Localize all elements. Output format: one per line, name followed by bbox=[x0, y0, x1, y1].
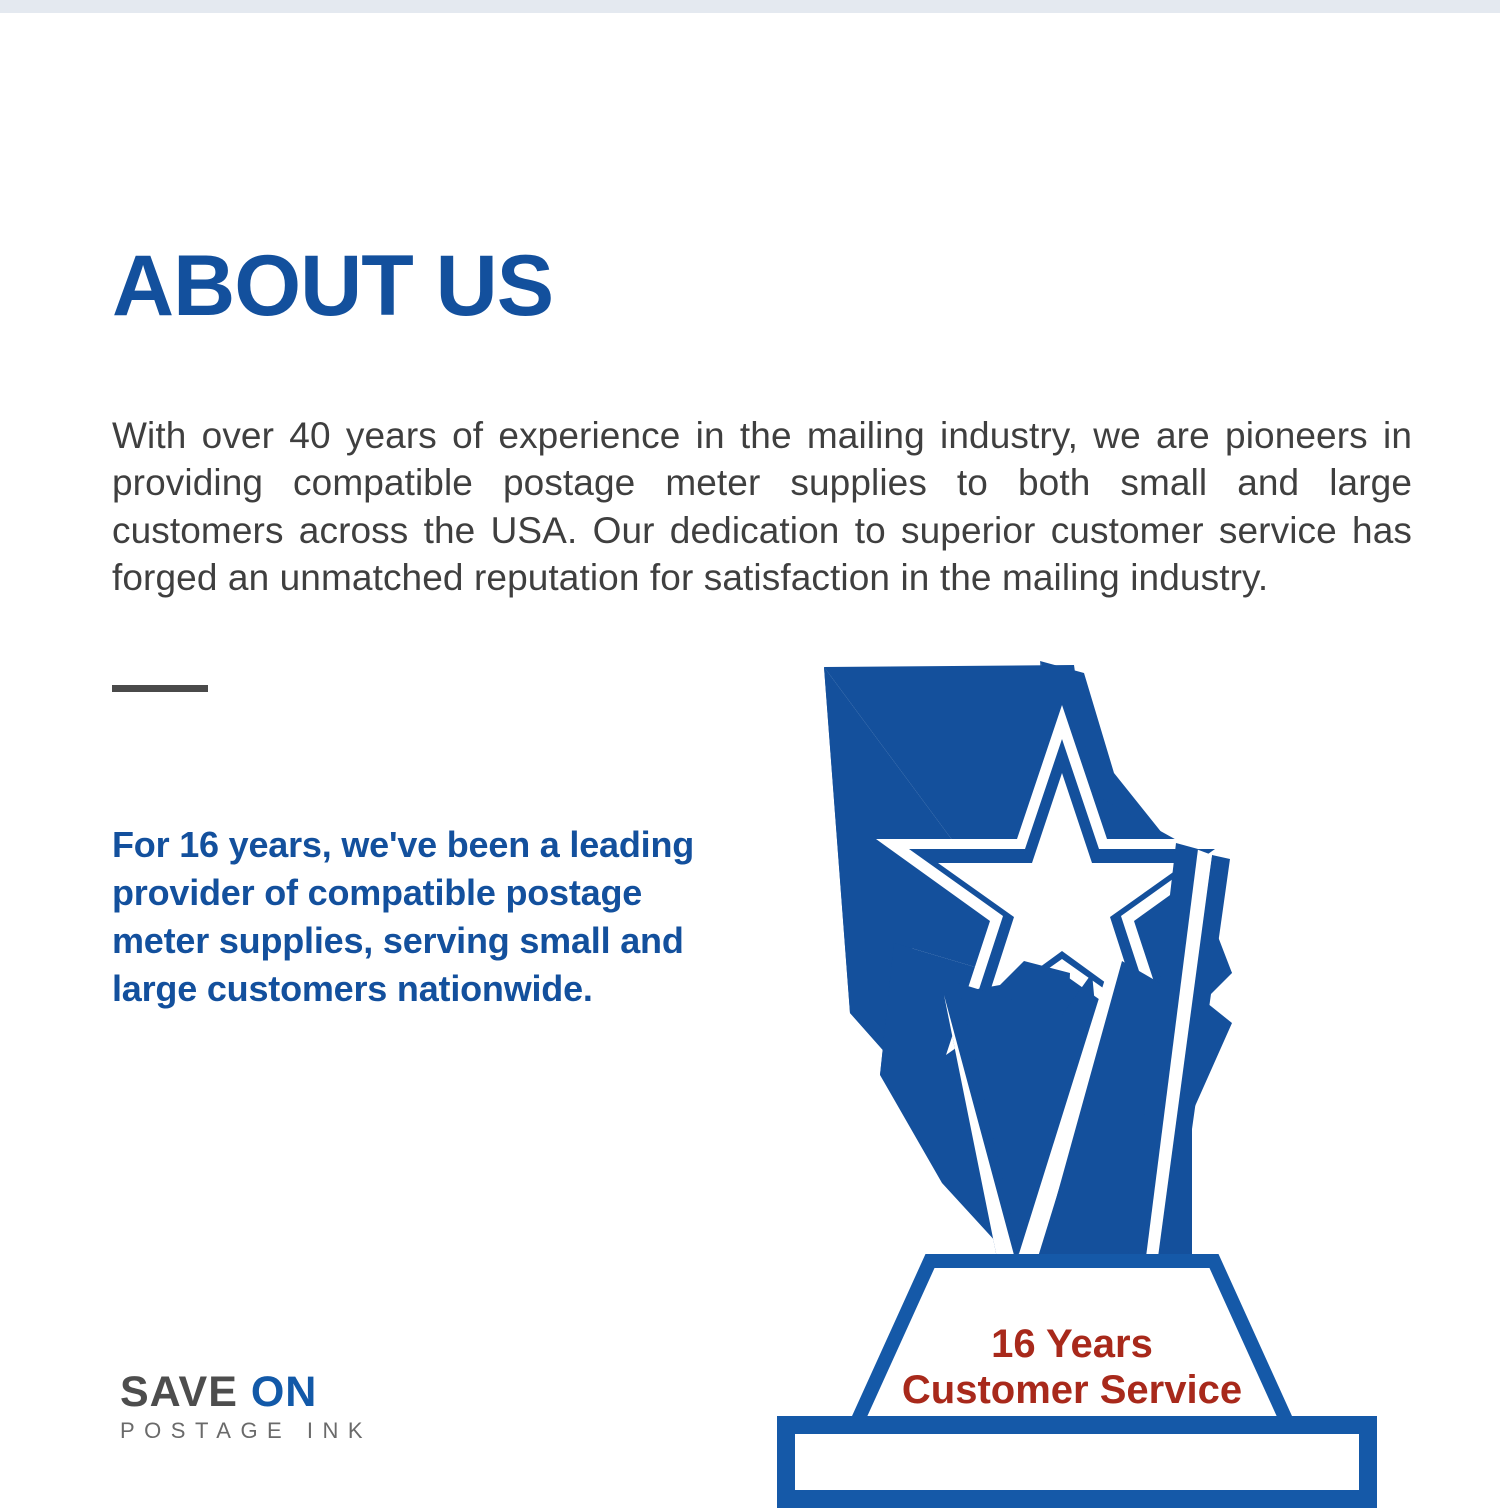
brand-logo: SAVE ON POSTAGE INK bbox=[120, 1371, 380, 1442]
about-us-card: ABOUT US With over 40 years of experienc… bbox=[0, 13, 1500, 1495]
trophy-award-illustration: 16 Years Customer Service bbox=[762, 643, 1392, 1508]
logo-wordmark: SAVE ON bbox=[120, 1371, 380, 1414]
trophy-caption-line-2: Customer Service bbox=[902, 1368, 1242, 1412]
section-divider bbox=[112, 685, 208, 692]
highlight-statement: For 16 years, we've been a leading provi… bbox=[112, 821, 712, 1013]
logo-word-save: SAVE bbox=[120, 1368, 238, 1416]
trophy-base-bar bbox=[786, 1425, 1368, 1499]
page-title: ABOUT US bbox=[112, 243, 553, 329]
top-accent-strip bbox=[0, 0, 1500, 13]
logo-word-on: ON bbox=[251, 1368, 318, 1416]
trophy-caption-line-1: 16 Years bbox=[991, 1322, 1153, 1366]
about-paragraph: With over 40 years of experience in the … bbox=[112, 412, 1412, 601]
logo-tagline: POSTAGE INK bbox=[120, 1420, 380, 1442]
